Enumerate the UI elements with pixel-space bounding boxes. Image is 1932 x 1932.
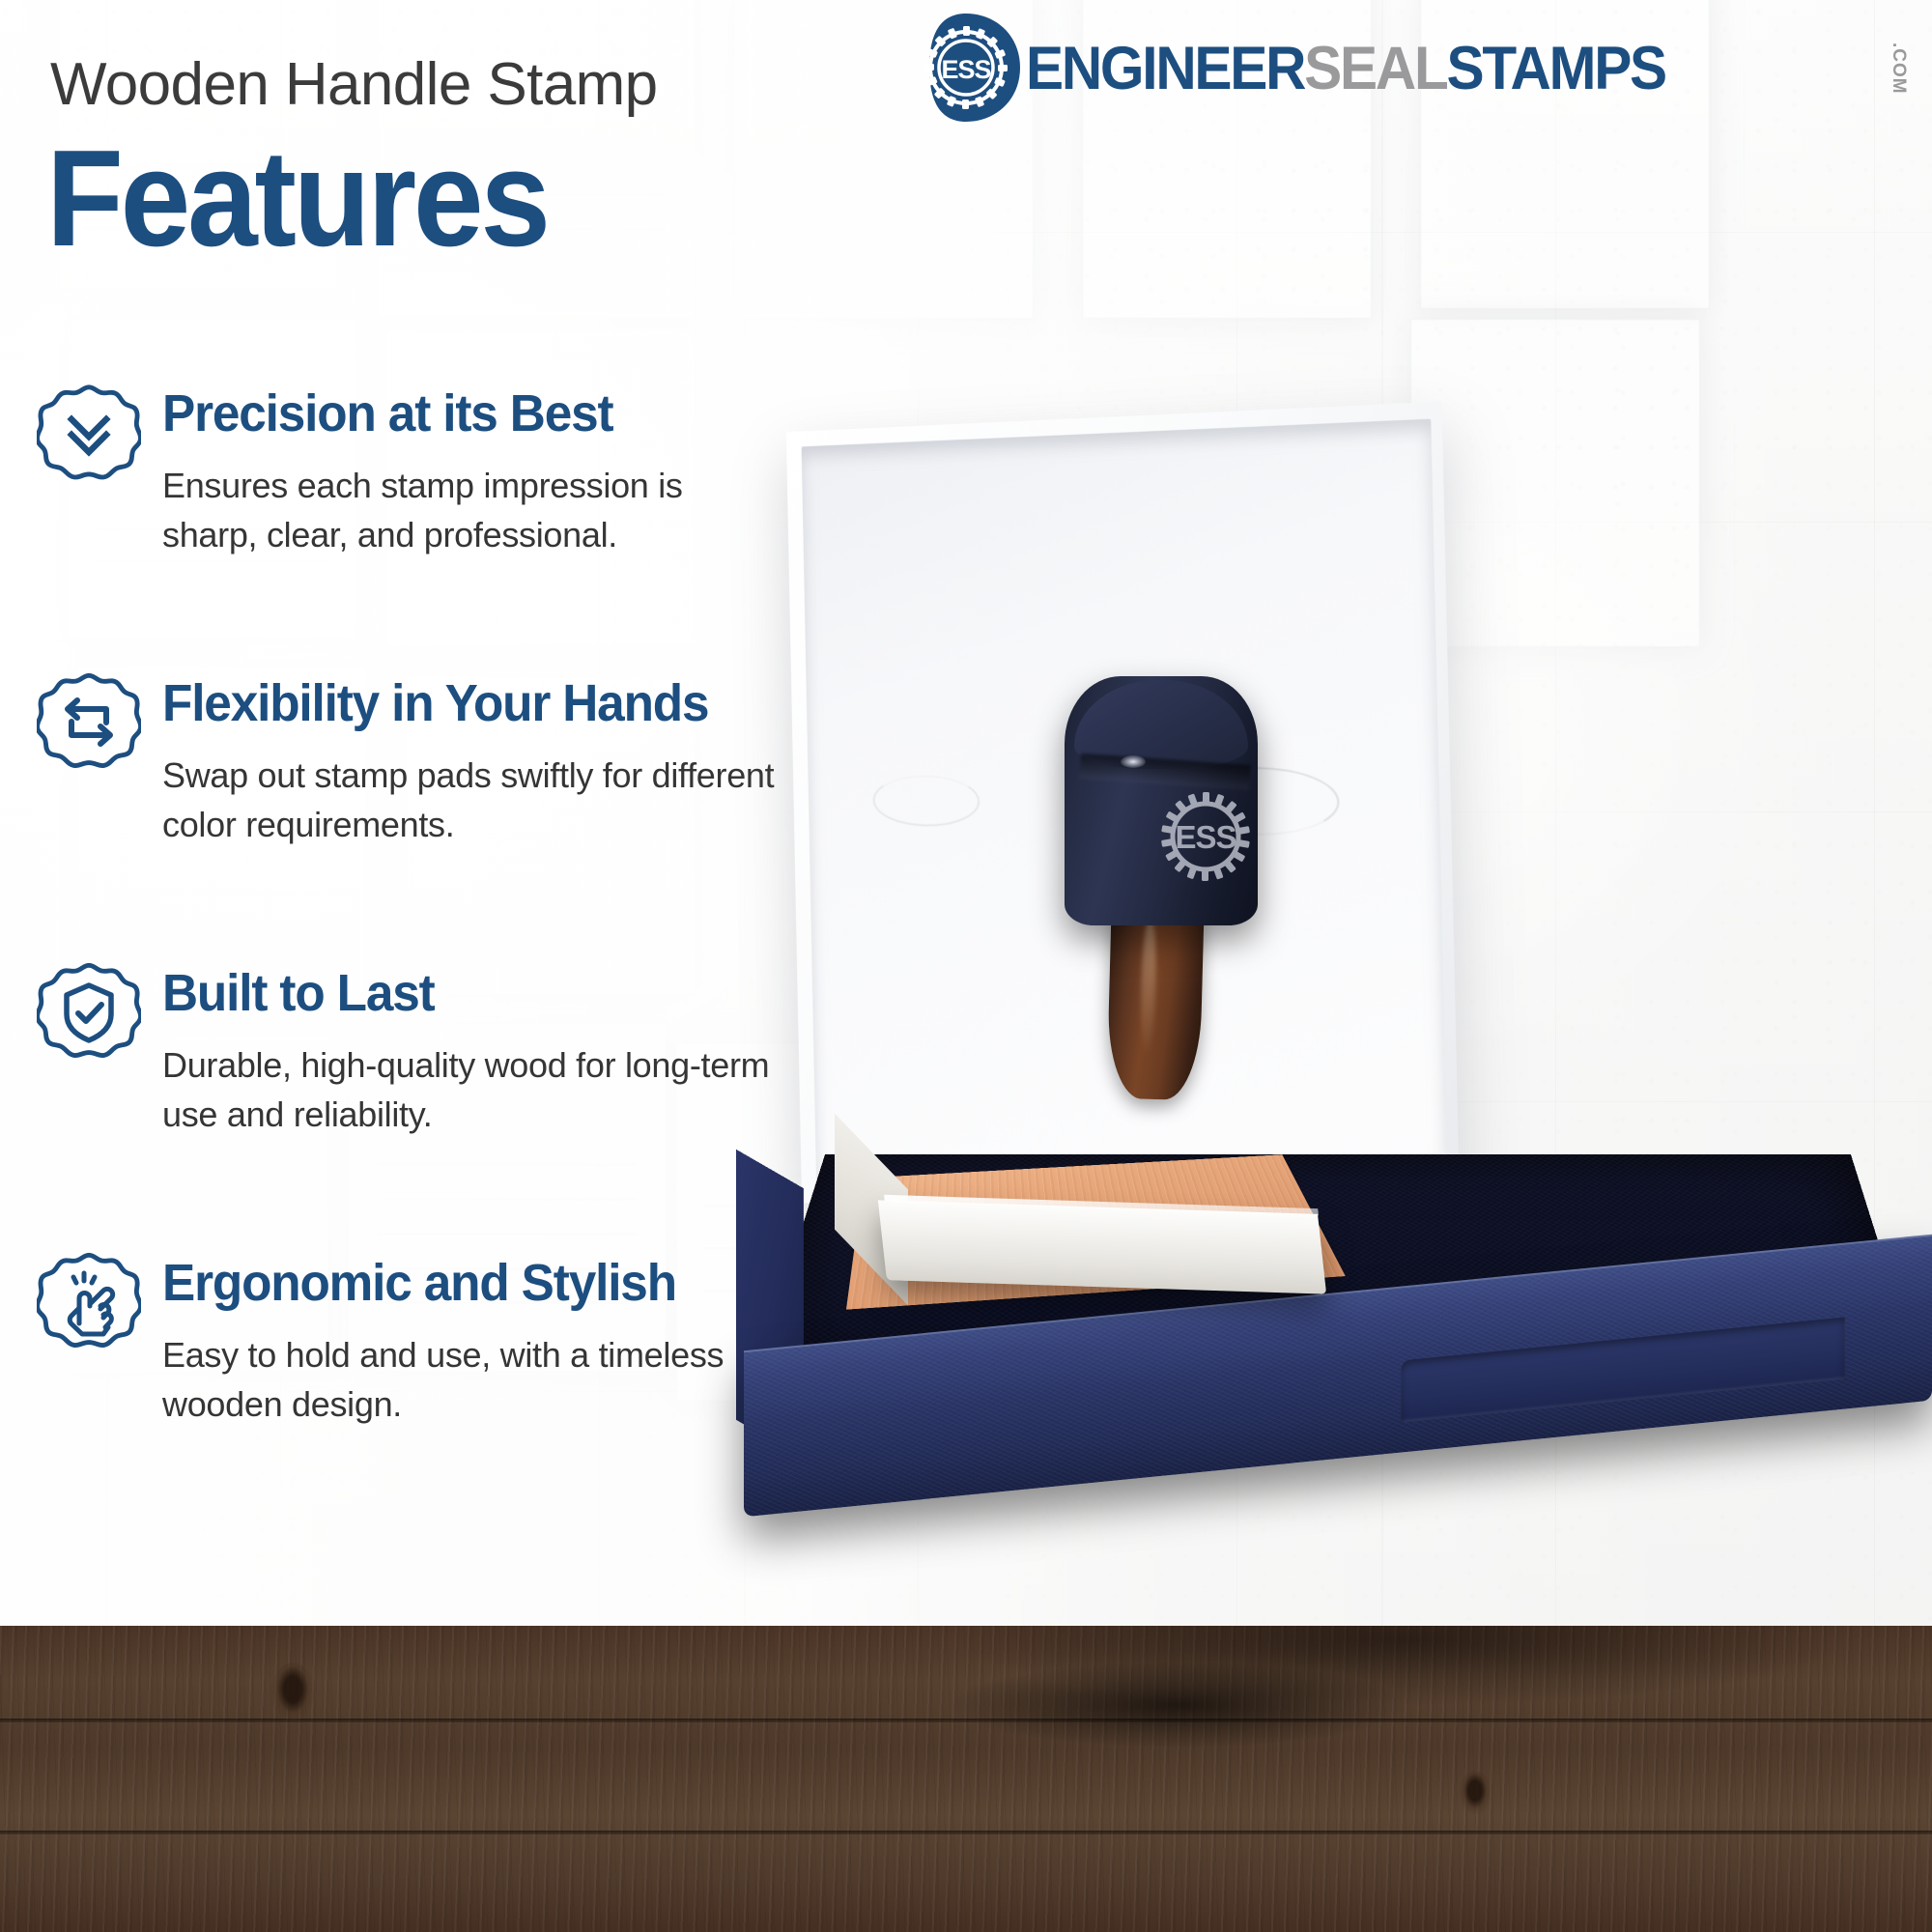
swap-arrows-badge-icon xyxy=(37,668,141,773)
brand-logo[interactable]: ESS ENGINEERSEALSTAMPS .COM xyxy=(912,14,1922,122)
feature-heading: Built to Last xyxy=(162,966,435,1021)
stamp-black-knob-handle: ESS xyxy=(1065,676,1258,925)
knob-specular-highlight xyxy=(1121,755,1146,768)
feature-body: Easy to hold and use, with a timeless wo… xyxy=(162,1330,781,1429)
brand-tld: .COM xyxy=(1889,43,1908,95)
stamp-cast-shadow xyxy=(840,1642,1517,1768)
tapping-hand-badge-icon xyxy=(37,1248,141,1352)
feature-body: Ensures each stamp impression is sharp, … xyxy=(162,461,781,559)
page-subtitle: Wooden Handle Stamp xyxy=(50,50,658,119)
double-chevron-down-badge-icon xyxy=(37,379,141,483)
stamp-wooden-neck xyxy=(1106,905,1204,1100)
feature-body: Durable, high-quality wood for long-term… xyxy=(162,1040,781,1139)
infographic-canvas: ESS ENGINEERSEALSTAMPS .COM Wooden Handl… xyxy=(0,0,1932,1932)
knob-ess-gear-emblem-icon: ESS xyxy=(1153,784,1258,889)
svg-text:ESS: ESS xyxy=(1175,819,1236,855)
stamp-wood-base-front-side xyxy=(878,1200,1326,1293)
brand-name-part1: ENGINEER xyxy=(1026,35,1304,102)
brand-name-part2: SEAL xyxy=(1304,35,1446,102)
feature-heading: Ergonomic and Stylish xyxy=(162,1256,676,1311)
feature-body: Swap out stamp pads swiftly for differen… xyxy=(162,751,781,849)
page-title: Features xyxy=(46,130,548,268)
feature-heading: Precision at its Best xyxy=(162,386,612,441)
brand-name-part3: STAMPS xyxy=(1447,35,1665,102)
feature-heading: Flexibility in Your Hands xyxy=(162,676,708,731)
product-photo: ESS xyxy=(908,386,1932,1719)
shield-check-badge-icon xyxy=(37,958,141,1063)
wooden-handle-stamp: ESS xyxy=(850,792,1526,1333)
brand-name: ENGINEERSEALSTAMPS xyxy=(1026,39,1665,99)
